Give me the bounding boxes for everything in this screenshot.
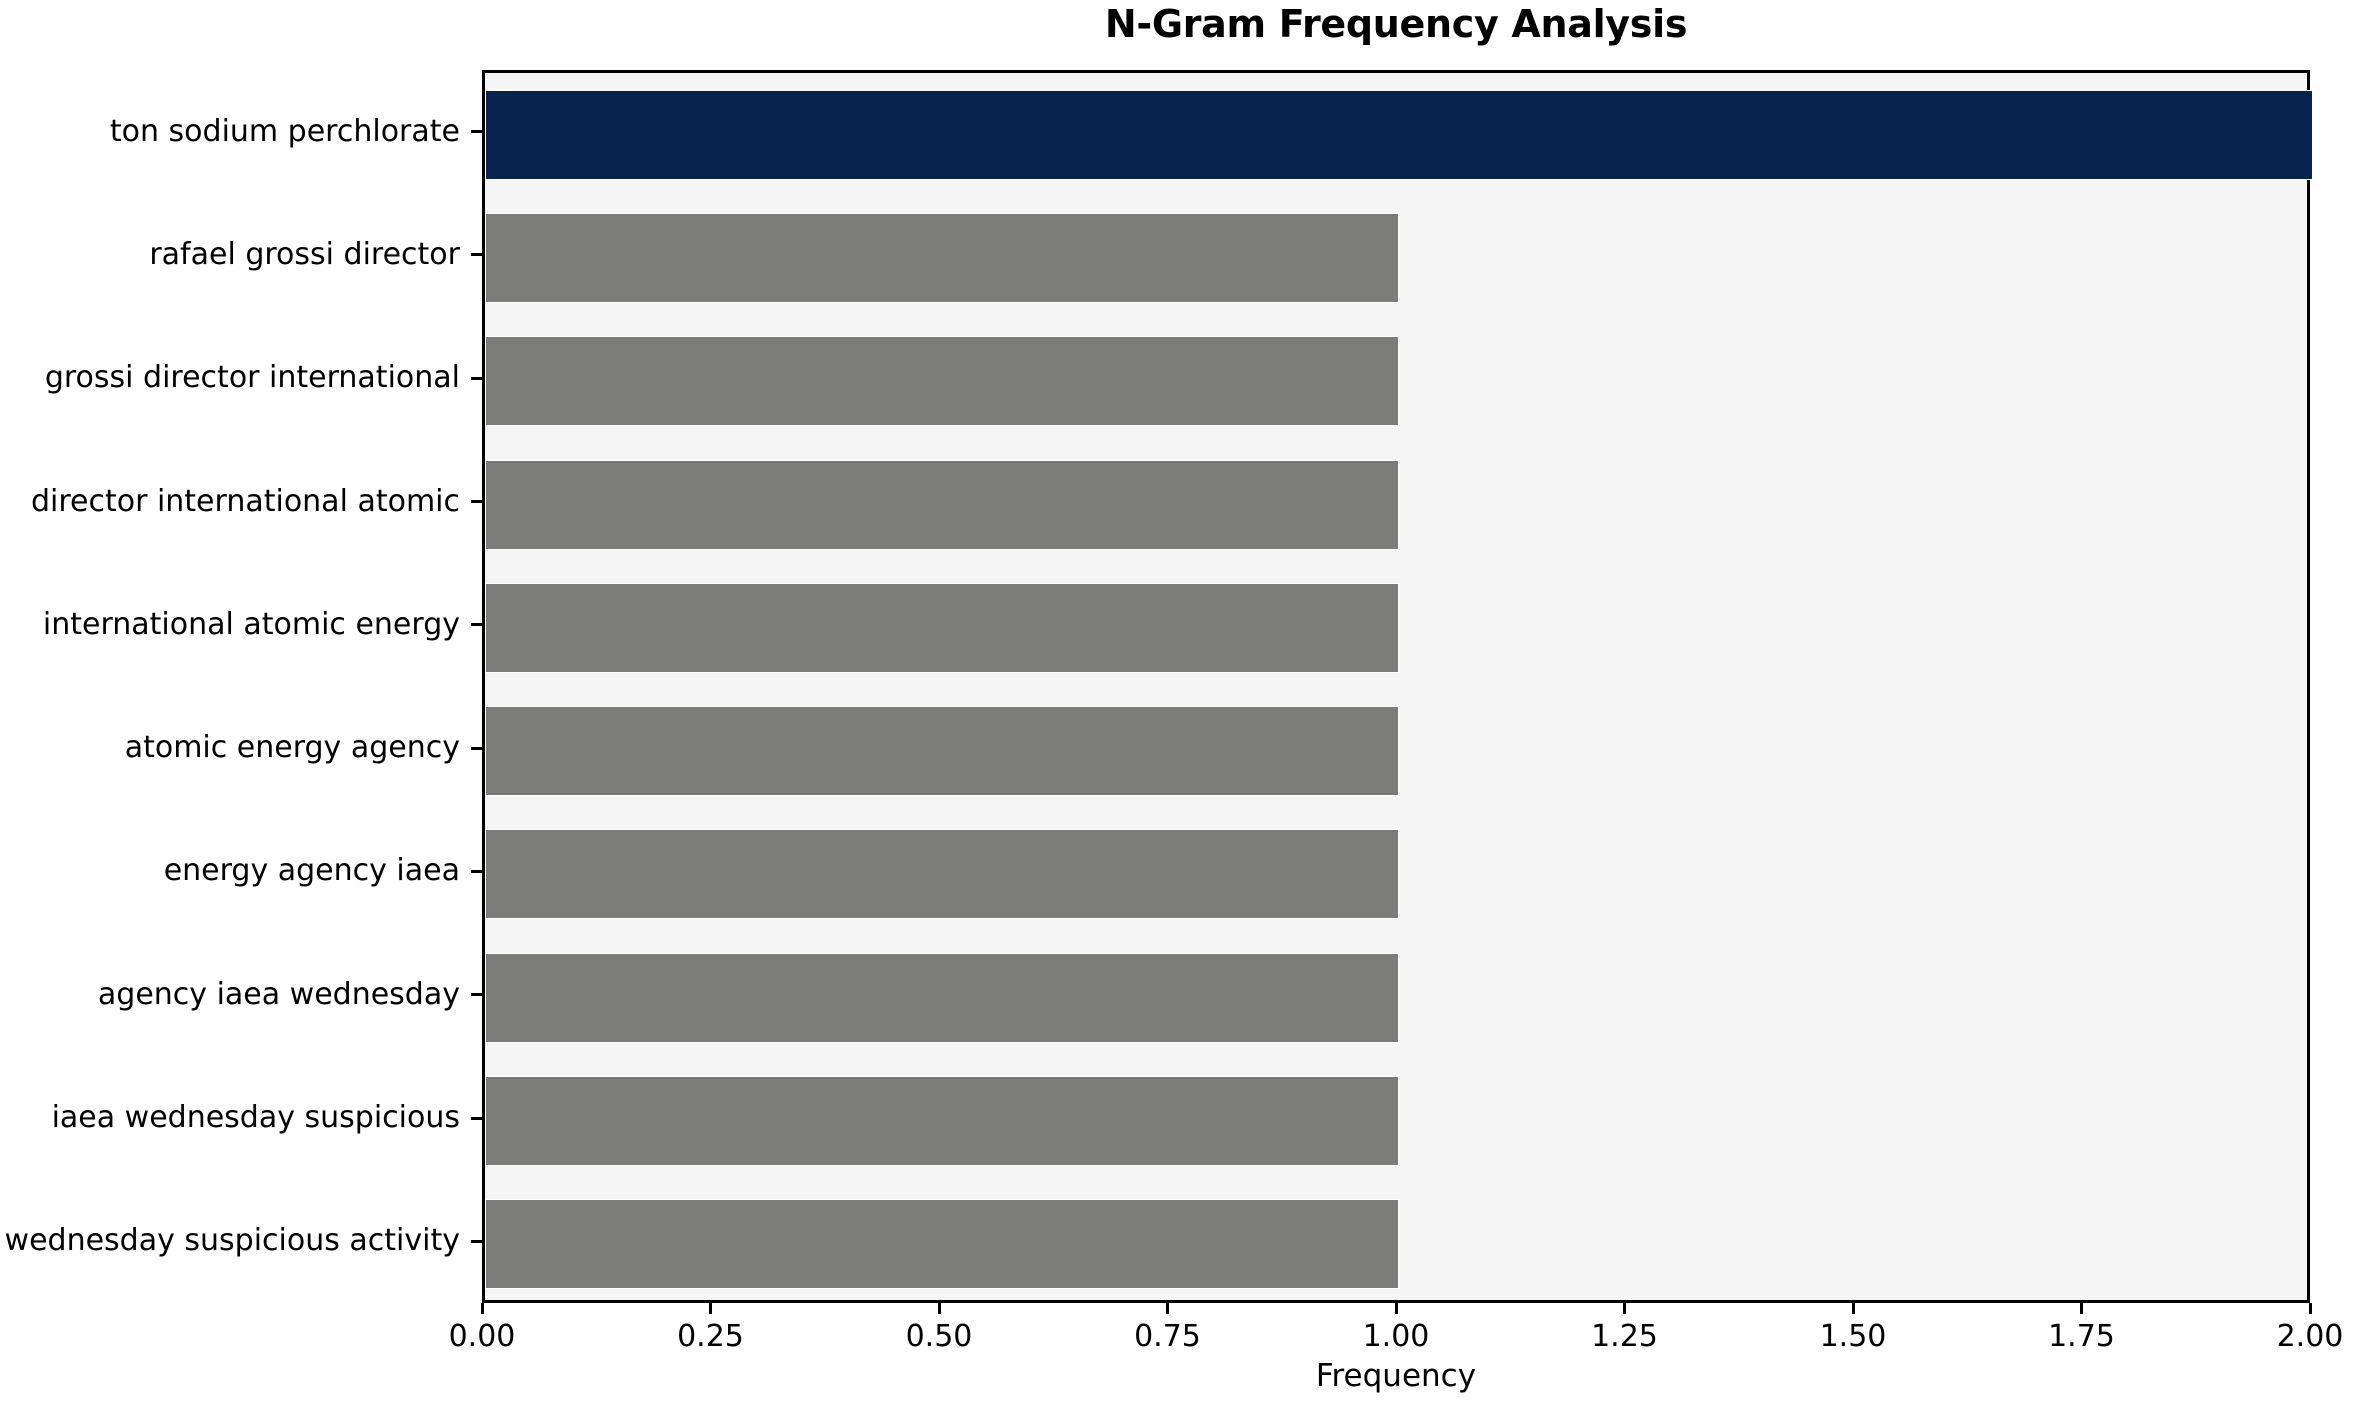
y-tick-mark: [471, 623, 482, 626]
x-tick-mark: [938, 1303, 941, 1314]
page-title: N-Gram Frequency Analysis: [482, 2, 2310, 46]
x-tick-label: 1.50: [1773, 1319, 1933, 1354]
y-tick-mark: [471, 130, 482, 133]
y-tick-label: director international atomic: [31, 482, 460, 522]
y-tick-mark: [471, 253, 482, 256]
bar: [485, 460, 1399, 550]
bar: [485, 953, 1399, 1043]
x-tick-label: 1.75: [2002, 1319, 2162, 1354]
chart-figure: N-Gram Frequency Analysis ton sodium per…: [0, 0, 2364, 1414]
y-tick-label: rafael grossi director: [149, 235, 460, 275]
bar: [485, 1076, 1399, 1166]
x-tick-label: 1.00: [1316, 1319, 1476, 1354]
bar: [485, 1199, 1399, 1289]
bar: [485, 336, 1399, 426]
y-tick-mark: [471, 747, 482, 750]
x-axis-label: Frequency: [482, 1358, 2310, 1394]
x-tick-mark: [2309, 1303, 2312, 1314]
y-tick-mark: [471, 1117, 482, 1120]
bar: [485, 706, 1399, 796]
bar: [485, 829, 1399, 919]
x-tick-mark: [1852, 1303, 1855, 1314]
x-tick-mark: [1166, 1303, 1169, 1314]
bars-layer: [485, 73, 2307, 1300]
y-tick-mark: [471, 377, 482, 380]
y-tick-label: grossi director international: [45, 358, 460, 398]
y-tick-label: atomic energy agency: [125, 728, 460, 768]
x-tick-label: 0.50: [859, 1319, 1019, 1354]
y-tick-mark: [471, 1240, 482, 1243]
bar: [485, 90, 2313, 180]
x-tick-mark: [709, 1303, 712, 1314]
x-tick-mark: [1395, 1303, 1398, 1314]
y-tick-label: agency iaea wednesday: [98, 975, 460, 1015]
y-tick-label: international atomic energy: [43, 605, 460, 645]
y-axis: ton sodium perchloraterafael grossi dire…: [0, 70, 482, 1303]
y-tick-label: energy agency iaea: [164, 851, 460, 891]
x-tick-label: 0.25: [631, 1319, 791, 1354]
plot-area: [482, 70, 2310, 1303]
y-tick-label: wednesday suspicious activity: [5, 1221, 460, 1261]
x-tick-label: 1.25: [1545, 1319, 1705, 1354]
x-tick-label: 0.75: [1088, 1319, 1248, 1354]
y-tick-label: iaea wednesday suspicious: [52, 1098, 460, 1138]
bar: [485, 583, 1399, 673]
y-tick-mark: [471, 500, 482, 503]
bar: [485, 213, 1399, 303]
x-tick-label: 2.00: [2230, 1319, 2364, 1354]
x-axis: 0.000.250.500.751.001.251.501.752.00: [482, 1303, 2310, 1363]
y-tick-label: ton sodium perchlorate: [110, 112, 460, 152]
y-tick-mark: [471, 870, 482, 873]
x-tick-mark: [1623, 1303, 1626, 1314]
y-tick-mark: [471, 993, 482, 996]
x-tick-mark: [2080, 1303, 2083, 1314]
x-tick-mark: [481, 1303, 484, 1314]
x-tick-label: 0.00: [402, 1319, 562, 1354]
